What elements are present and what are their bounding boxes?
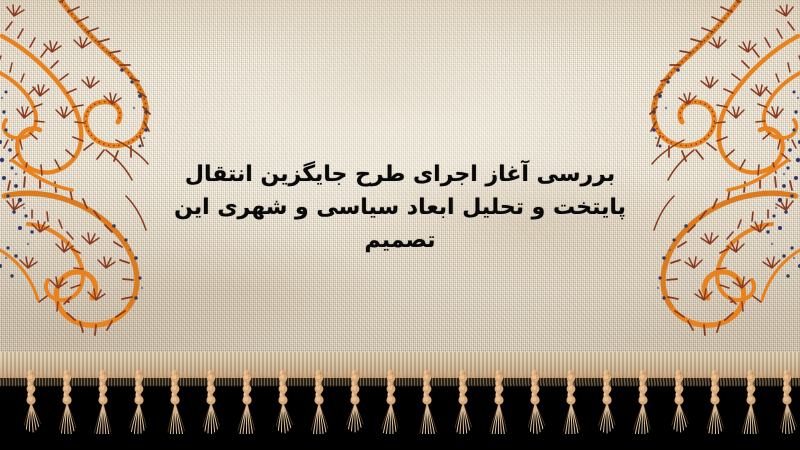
tassel: [560, 370, 582, 434]
tassel: [596, 370, 618, 434]
title-line-3: تصمیم: [0, 224, 800, 257]
tassel: [380, 370, 402, 434]
tassel: [236, 370, 258, 434]
tassel: [488, 370, 510, 434]
tassel-fringe: [0, 352, 800, 450]
tassel: [632, 370, 654, 434]
tassel: [740, 370, 762, 434]
tassel: [308, 370, 330, 434]
title-line-2: پایتخت و تحلیل ابعاد سیاسی و شهری این: [0, 191, 800, 224]
tassel: [524, 370, 546, 434]
tassel: [20, 370, 42, 434]
tassel: [452, 370, 474, 434]
tassel: [272, 370, 294, 434]
tassel: [56, 370, 78, 434]
tassel: [416, 370, 438, 434]
title-line-1: بررسی آغاز اجرای طرح جایگزین انتقال: [0, 158, 800, 191]
page-title: بررسی آغاز اجرای طرح جایگزین انتقال پایت…: [0, 158, 800, 257]
tassel: [92, 370, 114, 434]
tassel: [200, 370, 222, 434]
tassel: [344, 370, 366, 434]
title-card-canvas: بررسی آغاز اجرای طرح جایگزین انتقال پایت…: [0, 0, 800, 450]
tassel: [164, 370, 186, 434]
tassel: [128, 370, 150, 434]
tassel: [704, 370, 726, 434]
tassel: [668, 370, 690, 434]
tassel: [776, 370, 798, 434]
